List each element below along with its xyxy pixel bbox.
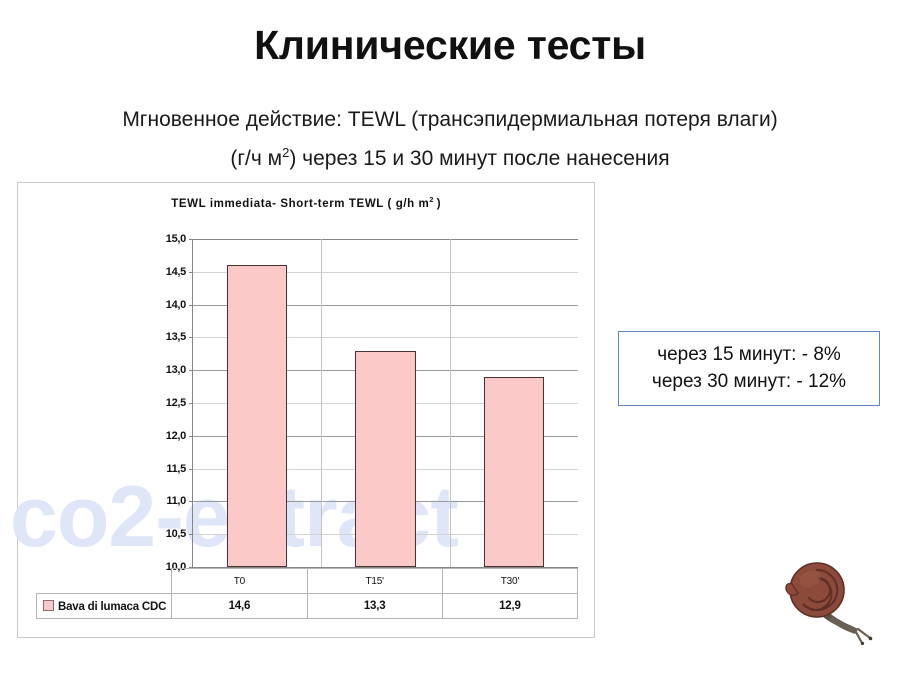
subtitle-line-2: (г/ч м2) через 15 и 30 минут после нанес… xyxy=(0,136,900,175)
y-axis-tick-label: 14,0 xyxy=(166,299,186,311)
callout-line-2: через 30 минут: - 12% xyxy=(629,368,869,395)
callout-box: через 15 минут: - 8% через 30 минут: - 1… xyxy=(618,331,880,406)
subtitle-line-1: Мгновенное действие: TEWL (трансэпидерми… xyxy=(0,103,900,136)
bar-t15 xyxy=(355,351,415,567)
table-value-t30: 12,9 xyxy=(442,594,577,619)
bar-t30 xyxy=(484,377,544,567)
table-header-row: T0 T15' T30' xyxy=(37,569,578,594)
slide-subtitle: Мгновенное действие: TEWL (трансэпидерми… xyxy=(0,103,900,175)
y-axis-tick-mark xyxy=(189,534,193,535)
subtitle-units-pre: (г/ч м xyxy=(230,147,282,170)
y-axis-tick-mark xyxy=(189,403,193,404)
chart-title-post: ) xyxy=(433,198,440,210)
legend-label: Bava di lumaca CDC xyxy=(58,601,166,613)
y-axis-tick-mark xyxy=(189,501,193,502)
y-axis-tick-mark xyxy=(189,469,193,470)
chart-title-pre: TEWL immediata- Short-term TEWL ( g/h m xyxy=(171,198,429,210)
table-row: Bava di lumaca CDC 14,6 13,3 12,9 xyxy=(37,594,578,619)
plot-area: 15,014,514,013,513,012,512,011,511,010,5… xyxy=(192,239,578,568)
y-axis-tick-label: 14,5 xyxy=(166,266,186,278)
category-separator xyxy=(450,239,451,567)
y-axis-tick-label: 13,0 xyxy=(166,364,186,376)
subtitle-units-post: ) через 15 и 30 минут после нанесения xyxy=(289,147,669,170)
table-header-t30: T30' xyxy=(442,569,577,594)
snail-photo xyxy=(772,546,879,645)
y-axis-tick-label: 13,5 xyxy=(166,331,186,343)
snail-illustration-icon xyxy=(772,546,879,645)
y-axis-tick-mark xyxy=(189,370,193,371)
gridline xyxy=(193,239,578,240)
y-axis-tick-label: 12,0 xyxy=(166,430,186,442)
table-value-t15: 13,3 xyxy=(307,594,442,619)
y-axis-tick-label: 12,5 xyxy=(166,397,186,409)
y-axis-tick-label: 11,0 xyxy=(166,495,186,507)
chart-data-table: T0 T15' T30' Bava di lumaca CDC 14,6 13,… xyxy=(36,568,578,619)
table-header-t0: T0 xyxy=(172,569,307,594)
chart-container: co2-extract TEWL immediata- Short-term T… xyxy=(17,182,595,638)
y-axis-tick-mark xyxy=(189,436,193,437)
table-header-t15: T15' xyxy=(307,569,442,594)
chart-title: TEWL immediata- Short-term TEWL ( g/h m2… xyxy=(18,196,594,210)
y-axis-tick-mark xyxy=(189,239,193,240)
y-axis-tick-mark xyxy=(189,272,193,273)
legend-entry: Bava di lumaca CDC xyxy=(37,594,172,619)
table-value-t0: 14,6 xyxy=(172,594,307,619)
callout-line-1: через 15 минут: - 8% xyxy=(629,341,869,368)
y-axis-tick-mark xyxy=(189,305,193,306)
category-separator xyxy=(321,239,322,567)
page-title: Клинические тесты xyxy=(0,22,900,69)
bar-t0 xyxy=(227,265,287,567)
y-axis-tick-label: 15,0 xyxy=(166,233,186,245)
table-corner-cell xyxy=(37,569,172,594)
legend-swatch-icon xyxy=(43,600,54,611)
y-axis-tick-label: 11,5 xyxy=(166,463,186,475)
y-axis-tick-label: 10,5 xyxy=(166,528,186,540)
y-axis-tick-mark xyxy=(189,337,193,338)
